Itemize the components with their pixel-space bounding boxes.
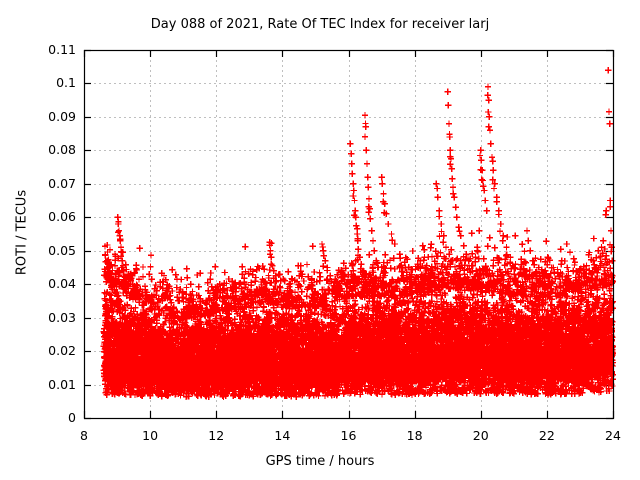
- scatter-plot-canvas: [0, 0, 640, 480]
- x-tick-label: 20: [461, 428, 501, 443]
- x-tick-label: 22: [527, 428, 567, 443]
- x-tick-label: 24: [593, 428, 633, 443]
- x-tick-label: 10: [130, 428, 170, 443]
- scatter-markers: [101, 67, 617, 400]
- x-tick-label: 18: [395, 428, 435, 443]
- y-tick-label: 0.01: [6, 377, 76, 392]
- x-tick-label: 12: [196, 428, 236, 443]
- data-points-group: [101, 67, 617, 400]
- x-axis-label: GPS time / hours: [0, 454, 640, 469]
- y-tick-label: 0.1: [6, 75, 76, 90]
- y-axis-label: ROTI / TECUs: [15, 153, 30, 313]
- y-tick-label: 0: [6, 410, 76, 425]
- y-tick-label: 0.02: [6, 343, 76, 358]
- y-tick-label: 0.11: [6, 42, 76, 57]
- chart-figure: Day 088 of 2021, Rate Of TEC Index for r…: [0, 0, 640, 480]
- x-tick-label: 16: [329, 428, 369, 443]
- x-tick-label: 14: [262, 428, 302, 443]
- x-tick-label: 8: [64, 428, 104, 443]
- y-tick-label: 0.09: [6, 109, 76, 124]
